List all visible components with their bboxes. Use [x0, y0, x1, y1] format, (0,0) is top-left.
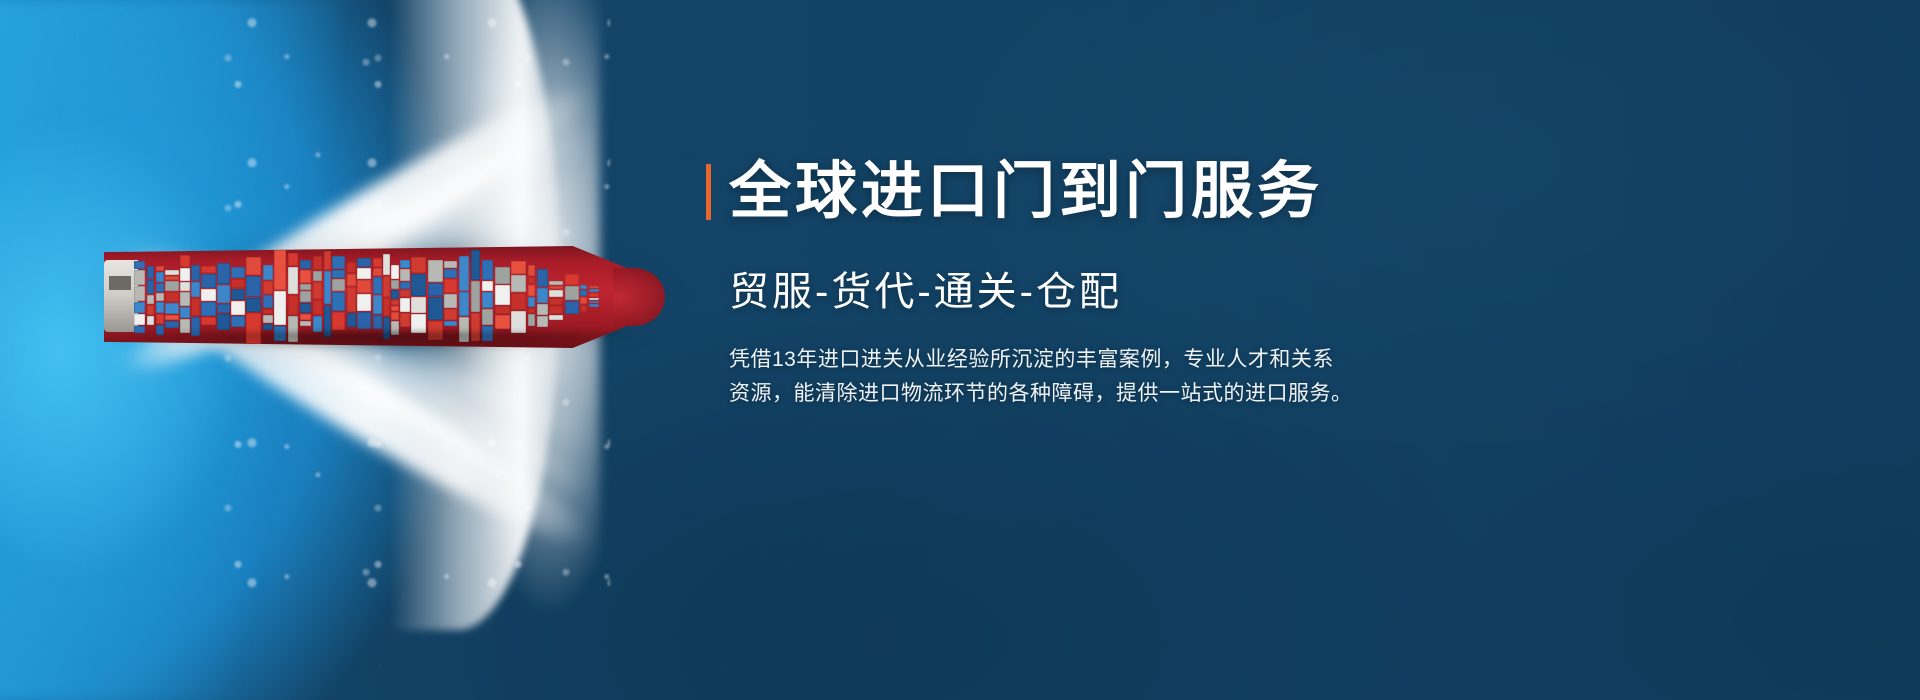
container-stack — [332, 256, 345, 330]
container-stack — [263, 265, 273, 330]
shipping-container — [156, 314, 164, 325]
shipping-container — [201, 289, 216, 302]
shipping-container — [511, 261, 526, 274]
shipping-container — [313, 271, 322, 282]
shipping-container — [383, 254, 390, 275]
shipping-container — [565, 301, 579, 314]
container-stack — [147, 266, 154, 325]
shipping-container — [471, 250, 480, 280]
container-stack — [231, 267, 245, 327]
shipping-container — [391, 312, 399, 320]
shipping-container — [537, 316, 548, 327]
container-stack — [201, 266, 216, 325]
shipping-container — [444, 294, 457, 308]
container-stack — [511, 261, 526, 333]
shipping-container — [191, 298, 200, 316]
shipping-container — [147, 266, 154, 279]
shipping-container — [482, 309, 493, 326]
shipping-container — [589, 298, 599, 300]
shipping-container — [300, 284, 311, 290]
container-stack — [180, 255, 190, 333]
shipping-container — [165, 321, 179, 328]
shipping-container — [300, 291, 311, 302]
description-line-1: 凭借13年进口进关从业经验所沉淀的丰富案例，专业人才和关系 — [729, 343, 1429, 377]
shipping-container — [134, 261, 145, 269]
container-stack — [549, 281, 563, 320]
shipping-container — [537, 304, 548, 315]
shipping-container — [373, 277, 382, 294]
shipping-container — [217, 314, 230, 330]
container-stack — [373, 258, 382, 329]
shipping-container — [324, 251, 331, 270]
shipping-container — [165, 292, 179, 302]
shipping-container — [147, 280, 154, 294]
shipping-container — [589, 304, 599, 307]
container-stack — [288, 253, 298, 342]
shipping-container — [391, 300, 399, 305]
shipping-container — [165, 303, 179, 314]
container-stack — [589, 286, 599, 307]
hero-banner: 全球进口门到门服务 贸服-货代-通关-仓配 凭借13年进口进关从业经验所沉淀的丰… — [0, 0, 1920, 700]
shipping-container — [347, 313, 356, 327]
shipping-container — [411, 257, 426, 273]
shipping-container — [357, 280, 371, 293]
hero-copy: 全球进口门到门服务 贸服-货代-通关-仓配 凭借13年进口进关从业经验所沉淀的丰… — [706, 160, 1706, 411]
shipping-container — [217, 304, 230, 313]
shipping-container — [482, 292, 493, 308]
shipping-container — [147, 295, 154, 304]
shipping-container — [147, 316, 154, 325]
shipping-container — [180, 255, 190, 267]
shipping-container — [428, 297, 443, 321]
shipping-container — [444, 261, 457, 268]
shipping-container — [263, 281, 273, 294]
container-stack — [400, 260, 410, 327]
shipping-container — [580, 290, 587, 296]
shipping-container — [165, 315, 179, 320]
description: 凭借13年进口进关从业经验所沉淀的丰富案例，专业人才和关系 资源，能清除进口物流… — [729, 343, 1429, 411]
shipping-container — [383, 298, 390, 316]
shipping-container — [383, 276, 390, 297]
shipping-container — [528, 265, 535, 276]
shipping-container — [495, 285, 510, 304]
shipping-container — [511, 293, 526, 310]
shipping-container — [428, 283, 443, 296]
shipping-container — [165, 281, 179, 292]
shipping-container — [549, 306, 563, 314]
shipping-container — [549, 315, 563, 320]
shipping-container — [444, 321, 457, 326]
shipping-container — [332, 292, 345, 311]
shipping-container — [274, 250, 286, 290]
shipping-container — [263, 265, 273, 280]
shipping-container — [444, 309, 457, 320]
container-stack — [313, 256, 322, 332]
shipping-container — [134, 314, 145, 325]
shipping-container — [391, 306, 399, 311]
shipping-container — [165, 276, 179, 280]
shipping-container — [300, 321, 311, 326]
container-stack — [134, 261, 145, 333]
shipping-container — [201, 317, 216, 325]
shipping-container — [400, 290, 410, 297]
shipping-container — [347, 262, 356, 273]
shipping-container — [165, 270, 179, 275]
shipping-container — [313, 300, 322, 314]
shipping-container — [231, 289, 245, 299]
shipping-container — [537, 269, 548, 287]
shipping-container — [537, 288, 548, 303]
shipping-container — [231, 279, 245, 288]
container-stacks — [134, 250, 604, 344]
shipping-container — [411, 274, 426, 296]
container-stack — [324, 251, 331, 337]
shipping-container — [528, 308, 535, 313]
shipping-container — [288, 253, 298, 266]
shipping-container — [511, 311, 526, 333]
shipping-container — [231, 301, 245, 315]
shipping-container — [400, 282, 410, 289]
shipping-container — [274, 291, 286, 325]
container-stack — [580, 285, 587, 312]
shipping-container — [332, 279, 345, 291]
container-stack — [246, 257, 261, 344]
shipping-container — [201, 266, 216, 273]
shipping-container — [156, 283, 164, 292]
shipping-container — [511, 275, 526, 291]
shipping-container — [147, 305, 154, 314]
shipping-container — [495, 306, 510, 314]
accent-bar — [706, 164, 711, 220]
shipping-container — [263, 324, 273, 330]
shipping-container — [156, 266, 164, 271]
container-stack — [347, 262, 356, 327]
shipping-container — [357, 258, 371, 267]
shipping-container — [191, 282, 200, 297]
shipping-container — [263, 295, 273, 308]
shipping-container — [528, 285, 535, 295]
shipping-container — [428, 260, 443, 282]
shipping-container — [357, 294, 371, 311]
shipping-container — [134, 286, 145, 300]
shipping-container — [373, 315, 382, 329]
shipping-container — [347, 274, 356, 286]
shipping-container — [580, 297, 587, 304]
shipping-container — [191, 265, 200, 281]
shipping-container — [217, 263, 230, 284]
shipping-container — [482, 281, 493, 292]
shipping-container — [357, 268, 371, 279]
shipping-container — [391, 290, 399, 299]
shipping-container — [263, 309, 273, 314]
shipping-container — [231, 316, 245, 327]
ship-superstructure — [104, 260, 138, 332]
shipping-container — [332, 256, 345, 269]
container-stack — [217, 263, 230, 330]
shipping-container — [246, 276, 261, 297]
shipping-container — [180, 268, 190, 281]
shipping-container — [156, 293, 164, 302]
shipping-container — [411, 297, 426, 313]
shipping-container — [459, 256, 469, 291]
shipping-container — [300, 260, 311, 269]
shipping-container — [134, 302, 145, 313]
shipping-container — [589, 293, 599, 297]
shipping-container — [459, 292, 469, 316]
shipping-container — [411, 314, 426, 333]
shipping-container — [580, 285, 587, 289]
container-stack — [459, 256, 469, 342]
shipping-container — [324, 271, 331, 305]
description-line-2: 资源，能清除进口物流环节的各种障碍，提供一站式的进口服务。 — [729, 377, 1429, 411]
container-ship-icon — [104, 246, 649, 348]
container-stack — [444, 261, 457, 326]
shipping-container — [565, 274, 579, 285]
container-stack — [528, 265, 535, 326]
headline-row: 全球进口门到门服务 — [706, 160, 1706, 223]
shipping-container — [400, 260, 410, 268]
shipping-container — [471, 281, 480, 312]
shipping-container — [482, 260, 493, 280]
deck-shadow — [130, 332, 630, 350]
shipping-container — [180, 292, 190, 306]
container-stack — [383, 254, 390, 339]
container-stack — [495, 267, 510, 329]
shipping-container — [580, 305, 587, 312]
container-stack — [428, 260, 443, 340]
shipping-container — [565, 286, 579, 300]
shipping-container — [391, 265, 399, 279]
shipping-container — [373, 268, 382, 277]
shipping-container — [332, 270, 345, 277]
container-stack — [391, 265, 399, 335]
shipping-container — [180, 307, 190, 317]
container-stack — [274, 250, 286, 341]
shipping-container — [156, 302, 164, 312]
shipping-container — [357, 312, 371, 329]
shipping-container — [528, 297, 535, 307]
container-stack — [191, 265, 200, 336]
shipping-container — [300, 314, 311, 320]
shipping-container — [201, 302, 216, 316]
shipping-container — [288, 295, 298, 316]
shipping-container — [180, 282, 190, 291]
shipping-container — [444, 279, 457, 293]
shipping-container — [231, 267, 245, 278]
shipping-container — [300, 270, 311, 283]
shipping-container — [246, 257, 261, 275]
shipping-container — [217, 285, 230, 304]
subtitle: 贸服-货代-通关-仓配 — [729, 259, 1706, 317]
shipping-container — [373, 295, 382, 314]
container-stack — [156, 266, 164, 335]
container-stack — [565, 274, 579, 314]
shipping-container — [549, 290, 563, 297]
shipping-container — [400, 269, 410, 280]
shipping-container — [589, 301, 599, 303]
shipping-container — [313, 316, 322, 332]
container-stack — [165, 270, 179, 328]
container-stack — [482, 260, 493, 341]
shipping-container — [134, 270, 145, 285]
shipping-container — [373, 258, 382, 267]
container-stack — [300, 260, 311, 326]
shipping-container — [400, 298, 410, 312]
shipping-container — [246, 298, 261, 312]
page-title: 全球进口门到门服务 — [729, 160, 1323, 223]
shipping-container — [528, 314, 535, 326]
shipping-container — [201, 274, 216, 288]
shipping-container — [347, 287, 356, 312]
shipping-container — [549, 286, 563, 289]
shipping-container — [549, 281, 563, 285]
shipping-container — [400, 313, 410, 327]
shipping-container — [313, 282, 322, 299]
shipping-container — [288, 267, 298, 293]
shipping-container — [332, 312, 345, 330]
shipping-container — [528, 277, 535, 284]
container-stack — [537, 269, 548, 327]
shipping-container — [589, 286, 599, 288]
shipping-container — [180, 319, 190, 333]
shipping-container — [549, 298, 563, 306]
container-stack — [471, 250, 480, 341]
container-stack — [357, 258, 371, 329]
shipping-container — [156, 272, 164, 281]
shipping-container — [444, 269, 457, 278]
shipping-container — [300, 303, 311, 314]
shipping-container — [313, 256, 322, 270]
shipping-container — [263, 315, 273, 323]
shipping-container — [589, 289, 599, 292]
shipping-container — [495, 267, 510, 284]
shipping-container — [495, 315, 510, 329]
shipping-container — [391, 280, 399, 289]
container-stack — [411, 257, 426, 333]
